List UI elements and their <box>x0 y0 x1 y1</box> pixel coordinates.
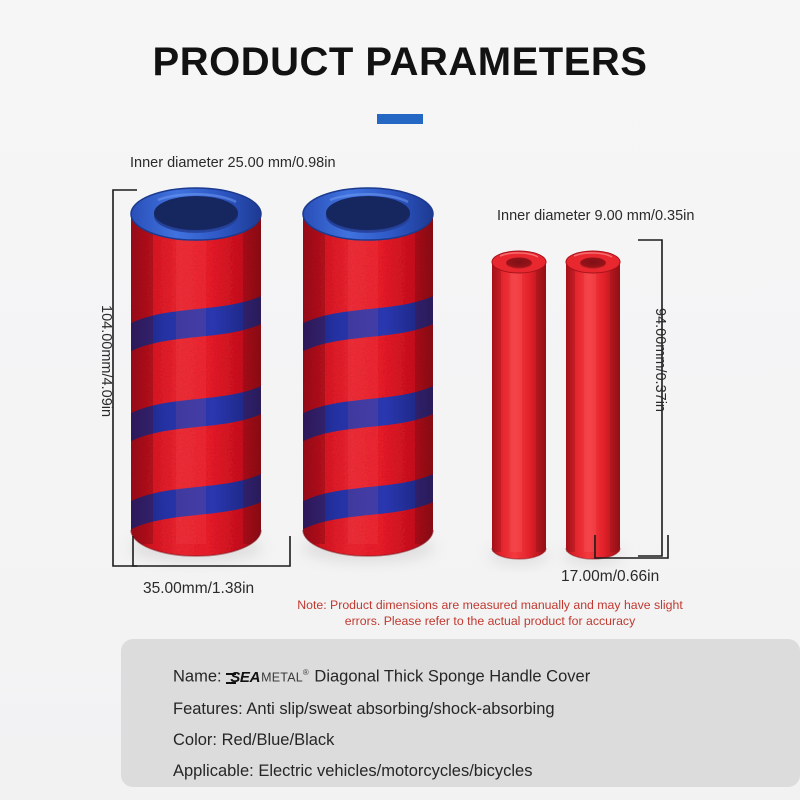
measurement-note: Note: Product dimensions are measured ma… <box>278 597 702 629</box>
large-sponge-grip-1 <box>120 188 275 556</box>
info-value-applicable: Electric vehicles/motorcycles/bicycles <box>258 762 532 780</box>
brand-metal-text: METAL <box>261 671 303 685</box>
label-width-small: 17.00m/0.66in <box>561 568 659 586</box>
label-inner-diameter-small: Inner diameter 9.00 mm/0.35in <box>497 208 694 224</box>
info-label-name: Name: <box>173 668 222 686</box>
label-inner-diameter-large: Inner diameter 25.00 mm/0.98in <box>130 155 336 171</box>
info-row-features: Features: Anti slip/sweat absorbing/shoc… <box>173 694 773 725</box>
small-rubber-grip-2 <box>566 251 620 559</box>
label-width-large: 35.00mm/1.38in <box>143 580 254 598</box>
title-accent-bar <box>377 114 423 124</box>
info-label-features: Features: <box>173 700 243 718</box>
info-row-name: Name: SEAMETAL® Diagonal Thick Sponge Ha… <box>173 657 773 694</box>
info-label-applicable: Applicable: <box>173 762 254 780</box>
label-height-large: 104.00mm/4.09in <box>98 305 114 417</box>
width-bracket-large <box>133 536 290 566</box>
info-label-color: Color: <box>173 731 217 749</box>
info-value-features: Anti slip/sweat absorbing/shock-absorbin… <box>246 700 554 718</box>
large-sponge-grip-2 <box>292 188 447 556</box>
registered-mark-icon: ® <box>303 668 309 677</box>
seametal-logo: SEAMETAL® <box>229 657 309 694</box>
info-value-name: Diagonal Thick Sponge Handle Cover <box>314 668 590 686</box>
page-title: PRODUCT PARAMETERS <box>0 40 800 85</box>
product-parameters-page: PRODUCT PARAMETERS <box>0 0 800 800</box>
brand-sea-text: SEA <box>229 669 261 686</box>
width-bracket-small <box>595 535 668 558</box>
label-height-small: 94.00mm/0.37in <box>652 308 668 412</box>
small-rubber-grip-1 <box>492 251 546 559</box>
height-bracket-large <box>113 190 137 566</box>
info-value-color: Red/Blue/Black <box>222 731 335 749</box>
info-row-color: Color: Red/Blue/Black <box>173 725 773 756</box>
info-row-applicable: Applicable: Electric vehicles/motorcycle… <box>173 756 773 787</box>
product-info-list: Name: SEAMETAL® Diagonal Thick Sponge Ha… <box>173 657 773 787</box>
